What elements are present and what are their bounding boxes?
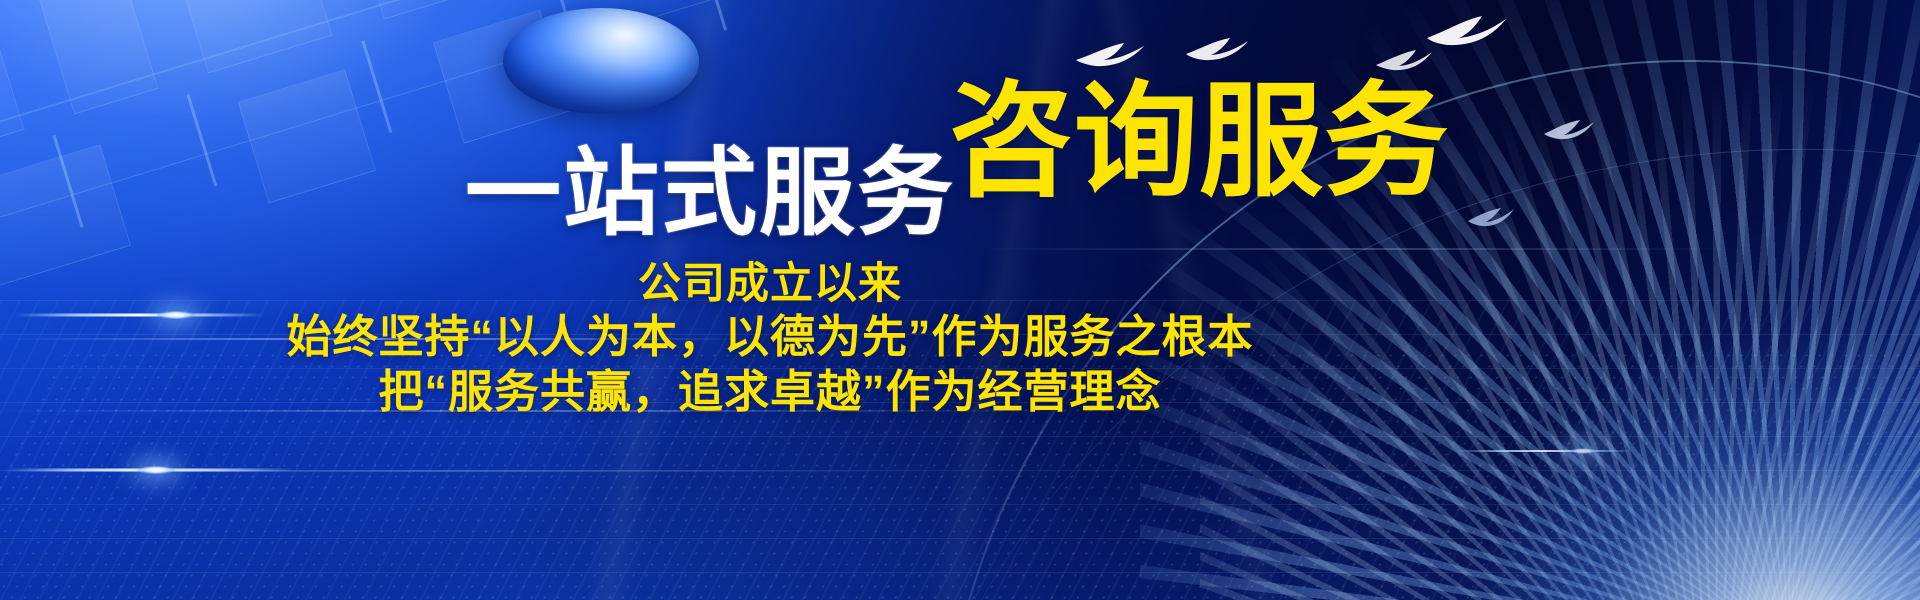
headline: 一站式服务 咨询服务	[0, 72, 1920, 196]
headline-primary-text: 一站式服务	[465, 146, 955, 242]
seagull-icon	[1424, 14, 1544, 50]
lens-flare	[0, 455, 300, 485]
seagull-icon	[1466, 206, 1538, 228]
seagull-icon	[1074, 40, 1182, 70]
subtitle-line: 始终坚持“以人为本，以德为先”作为服务之根本	[286, 310, 1253, 365]
seagull-icon	[1184, 36, 1280, 64]
lens-flare	[1450, 440, 1640, 462]
headline-accent-text: 咨询服务	[949, 80, 1449, 204]
subtitle-block: 公司成立以来 始终坚持“以人为本，以德为先”作为服务之根本 把“服务共赢，追求卓…	[0, 258, 1920, 420]
seagull-icon	[1374, 48, 1462, 74]
promo-banner: 一站式服务 咨询服务 公司成立以来 始终坚持“以人为本，以德为先”作为服务之根本…	[0, 0, 1920, 600]
light-streak	[980, 248, 1740, 250]
subtitle-line: 把“服务共赢，追求卓越”作为经营理念	[378, 365, 1161, 420]
subtitle-line: 公司成立以来	[638, 258, 902, 310]
